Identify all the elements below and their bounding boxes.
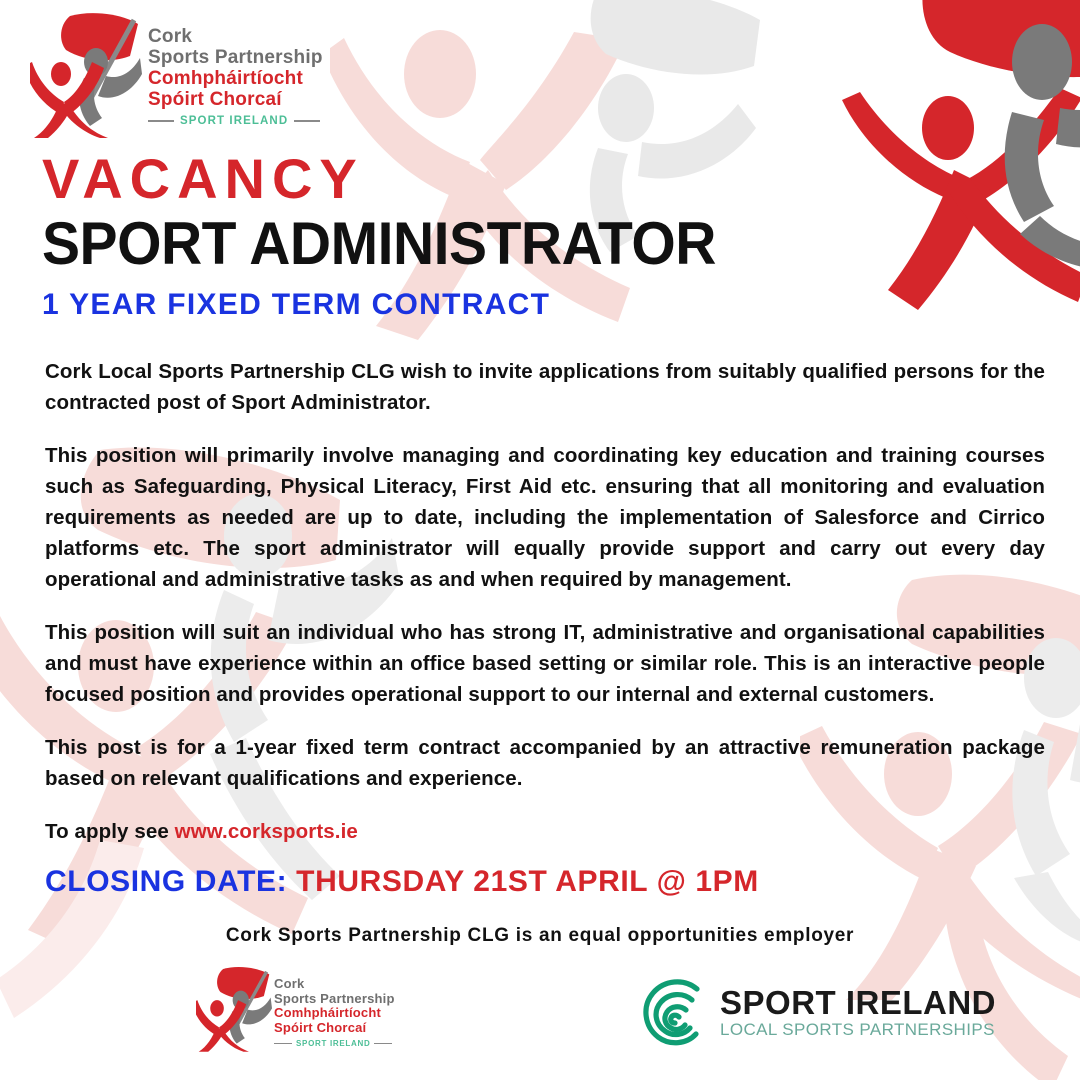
cork-sports-partnership-mark-icon <box>196 965 272 1053</box>
figure-top-right-grey <box>990 20 1080 270</box>
cork-sports-partnership-mark-icon <box>30 12 142 138</box>
logo-line-cork: Cork <box>148 26 323 47</box>
sport-ireland-spiral-icon <box>640 977 706 1049</box>
apply-line: To apply see www.corksports.ie <box>45 816 1045 847</box>
footer-logos: Cork Sports Partnership Comhpháirtíocht … <box>0 965 1080 1080</box>
footer-logo-line-sports-partnership: Sports Partnership <box>274 992 395 1007</box>
figure-top-right-red <box>830 0 1080 310</box>
paragraph-contract-terms: This post is for a 1-year fixed term con… <box>45 732 1045 794</box>
vacancy-heading: VACANCY <box>42 150 751 208</box>
footer-cork-sports-partnership-logo: Cork Sports Partnership Comhpháirtíocht … <box>196 965 426 1075</box>
paragraph-intro: Cork Local Sports Partnership CLG wish t… <box>45 356 1045 418</box>
body-copy: Cork Local Sports Partnership CLG wish t… <box>45 356 1045 847</box>
job-title-heading: SPORT ADMINISTRATOR <box>42 212 716 276</box>
paragraph-requirements: This position will suit an individual wh… <box>45 617 1045 710</box>
footer-logo-sport-ireland-row: SPORT IRELAND <box>274 1039 395 1048</box>
header-logo: Cork Sports Partnership Comhpháirtíocht … <box>30 8 350 143</box>
footer-logo-line-comhphairtiocht: Comhpháirtíocht <box>274 1006 395 1021</box>
logo-sport-ireland-label: SPORT IRELAND <box>180 115 288 127</box>
footer-logo-line-cork: Cork <box>274 977 395 992</box>
logo-sport-ireland-row: SPORT IRELAND <box>148 115 323 127</box>
logo-line-sports-partnership: Sports Partnership <box>148 47 323 68</box>
closing-date-label: CLOSING DATE: <box>45 865 296 898</box>
equal-opportunities-statement: Cork Sports Partnership CLG is an equal … <box>0 925 1080 947</box>
rule-left <box>274 1043 292 1045</box>
paragraph-duties: This position will primarily involve man… <box>45 440 1045 595</box>
rule-right <box>294 120 320 122</box>
sport-ireland-subtitle: LOCAL SPORTS PARTNERSHIPS <box>720 1020 996 1040</box>
closing-date-value: THURSDAY 21ST APRIL @ 1PM <box>296 865 759 898</box>
apply-website-link[interactable]: www.corksports.ie <box>175 820 358 843</box>
sport-ireland-title: SPORT IRELAND <box>720 986 996 1020</box>
heading-block: VACANCY SPORT ADMINISTRATOR 1 YEAR FIXED… <box>42 150 751 322</box>
sport-ireland-wordmark: SPORT IRELAND LOCAL SPORTS PARTNERSHIPS <box>720 986 996 1040</box>
footer-logo-sport-ireland-label: SPORT IRELAND <box>296 1039 370 1048</box>
footer-logo-line-spoirt-chorcai: Spóirt Chorcaí <box>274 1021 395 1036</box>
apply-prefix: To apply see <box>45 820 175 843</box>
logo-line-spoirt-chorcai: Spóirt Chorcaí <box>148 89 323 110</box>
rule-left <box>148 120 174 122</box>
logo-line-comhphairtiocht: Comhpháirtíocht <box>148 68 323 89</box>
contract-type-heading: 1 YEAR FIXED TERM CONTRACT <box>42 288 751 322</box>
vacancy-poster: Cork Sports Partnership Comhpháirtíocht … <box>0 0 1080 1080</box>
footer-logo-wordmark: Cork Sports Partnership Comhpháirtíocht … <box>274 977 395 1048</box>
footer-sport-ireland-logo: SPORT IRELAND LOCAL SPORTS PARTNERSHIPS <box>640 977 996 1049</box>
logo-wordmark: Cork Sports Partnership Comhpháirtíocht … <box>148 26 323 127</box>
rule-right <box>374 1043 392 1045</box>
closing-date-line: CLOSING DATE: THURSDAY 21ST APRIL @ 1PM <box>45 864 759 900</box>
